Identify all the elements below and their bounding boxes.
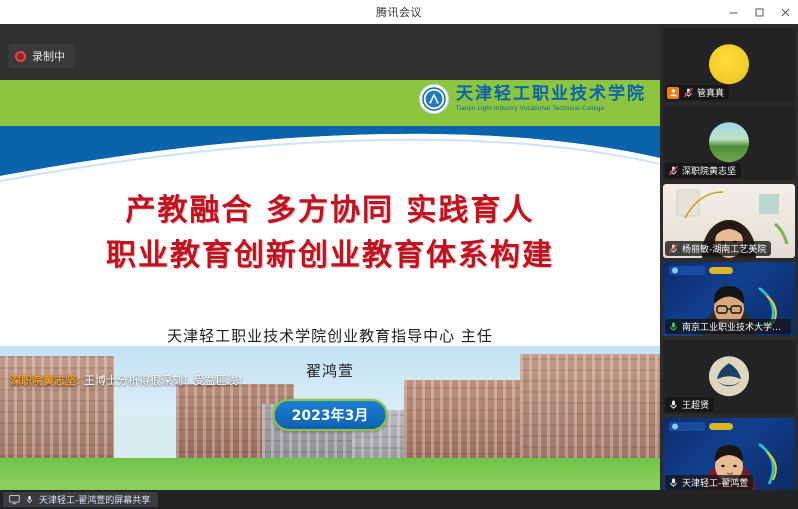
participant-tile[interactable]: 深职院黄志坚 <box>663 106 795 180</box>
participant-name: 南京工业职业技术大学张... <box>682 320 786 333</box>
avatar <box>709 356 749 396</box>
screen-share-icon <box>9 494 20 505</box>
slide-subtitle-affiliation: 天津轻工职业技术学院创业教育指导中心 主任 <box>0 325 660 346</box>
avatar <box>709 44 749 84</box>
recording-label: 录制中 <box>32 48 65 64</box>
mic-on-icon <box>667 477 679 489</box>
college-name-block: 天津轻工职业技术学院 Tianjin Light Industry Vocati… <box>456 86 646 112</box>
college-name-cn: 天津轻工职业技术学院 <box>456 86 646 103</box>
screen-share-status[interactable]: 天津轻工-翟鸿萱的屏幕共享 <box>3 492 158 507</box>
participant-name: 天津轻工-翟鸿萱 <box>682 476 748 489</box>
host-badge-icon <box>667 87 679 99</box>
recording-dot-icon <box>15 51 26 62</box>
avatar <box>709 122 749 162</box>
presentation-slide: 天津轻工职业技术学院 Tianjin Light Industry Vocati… <box>0 80 660 490</box>
photo-lawn <box>0 458 660 490</box>
mic-on-icon <box>667 321 679 333</box>
participant-rail[interactable]: 管真真 深职院黄志坚 <box>660 24 798 490</box>
close-button[interactable] <box>772 0 798 24</box>
shared-screen-stage: 录制中 天津轻工职业技术学院 <box>0 24 660 490</box>
mic-muted-icon <box>667 243 679 255</box>
participant-tile[interactable]: 王超贤 <box>663 340 795 414</box>
bottom-status-bar: 天津轻工-翟鸿萱的屏幕共享 <box>0 490 798 509</box>
participant-nametag: 深职院黄志坚 <box>665 163 741 178</box>
tencent-meeting-window: 腾讯会议 录制中 <box>0 0 798 509</box>
maximize-button[interactable] <box>746 0 772 24</box>
slide-subtitle-block: 天津轻工职业技术学院创业教育指导中心 主任 翟鸿萱 <box>0 325 660 381</box>
participant-name: 管真真 <box>697 86 724 99</box>
participant-tile[interactable]: 管真真 <box>663 28 795 102</box>
participant-nametag: 王超贤 <box>665 397 714 412</box>
mic-on-icon <box>25 494 34 505</box>
college-logo: 天津轻工职业技术学院 Tianjin Light Industry Vocati… <box>419 84 646 114</box>
participant-tile[interactable]: 杨丽敏-湖南工艺美院 <box>663 184 795 258</box>
chat-overlay-message: 深职院黄志坚: 王博士分析得很深刻！受益匪浅! <box>10 374 260 389</box>
window-titlebar: 腾讯会议 <box>0 0 798 24</box>
mic-muted-icon <box>667 165 679 177</box>
slide-title-block: 产教融合 多方协同 实践育人 职业教育创新创业教育体系构建 <box>0 188 660 278</box>
mic-muted-icon <box>682 87 694 99</box>
window-controls <box>720 0 798 24</box>
chat-sender: 深职院黄志坚: <box>10 374 80 387</box>
participant-nametag: 南京工业职业技术大学张... <box>665 319 791 334</box>
college-name-en: Tianjin Light Industry Vocational Techni… <box>456 106 646 112</box>
slide-title-line2: 职业教育创新创业教育体系构建 <box>0 233 660 278</box>
participant-nametag: 天津轻工-翟鸿萱 <box>665 475 753 490</box>
participant-tile[interactable]: 南京工业职业技术大学张... <box>663 262 795 336</box>
minimize-button[interactable] <box>720 0 746 24</box>
participant-name: 深职院黄志坚 <box>682 164 736 177</box>
chat-text: 王博士分析得很深刻！受益匪浅! <box>80 374 242 387</box>
participant-name: 杨丽敏-湖南工艺美院 <box>682 242 766 255</box>
college-emblem-icon <box>419 84 449 114</box>
slide-title-line1: 产教融合 多方协同 实践育人 <box>0 188 660 233</box>
window-title: 腾讯会议 <box>376 4 422 20</box>
participant-name: 王超贤 <box>682 398 709 411</box>
participant-nametag: 杨丽敏-湖南工艺美院 <box>665 241 771 256</box>
recording-indicator: 录制中 <box>8 44 75 68</box>
participant-tile[interactable]: 天津轻工-翟鸿萱 <box>663 418 795 492</box>
slide-date-badge: 2023年3月 <box>273 399 388 431</box>
screen-share-label: 天津轻工-翟鸿萱的屏幕共享 <box>39 493 150 506</box>
mic-on-icon <box>667 399 679 411</box>
participant-nametag: 管真真 <box>665 85 729 100</box>
